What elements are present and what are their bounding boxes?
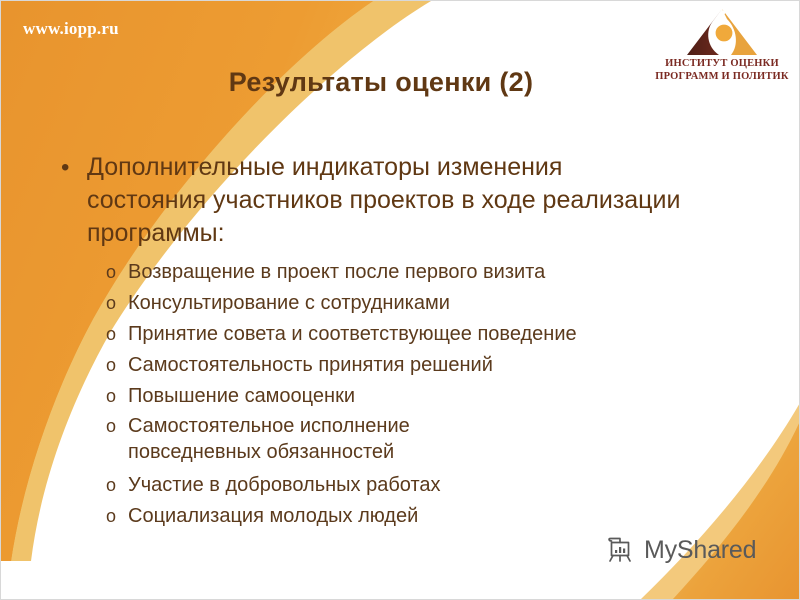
circle-marker-icon: o <box>106 320 128 349</box>
main-bullet: • Дополнительные индикаторы изменения со… <box>61 151 761 250</box>
myshared-watermark: MyShared <box>605 534 756 566</box>
circle-marker-icon: o <box>106 413 128 439</box>
circle-marker-icon: o <box>106 382 128 411</box>
triangle-person-logo-icon <box>679 7 765 57</box>
list-item: o Консультирование с сотрудниками <box>106 289 761 318</box>
list-item-label: Принятие совета и соответствующее поведе… <box>128 320 761 349</box>
main-bullet-text: Дополнительные индикаторы изменения сост… <box>87 151 687 250</box>
list-item-label: Социализация молодых людей <box>128 502 761 531</box>
list-item-label: Консультирование с сотрудниками <box>128 289 761 318</box>
list-item: o Повышение самооценки <box>106 382 761 411</box>
site-url-label: www.iopp.ru <box>23 19 119 39</box>
list-item: o Участие в добровольных работах <box>106 471 761 500</box>
page-title: Результаты оценки (2) <box>121 67 641 98</box>
circle-marker-icon: o <box>106 258 128 287</box>
list-item-label: Самостоятельность принятия решений <box>128 351 761 380</box>
logo-line-1: ИНСТИТУТ ОЦЕНКИ <box>649 57 795 70</box>
list-item-label: Повышение самооценки <box>128 382 761 411</box>
circle-marker-icon: o <box>106 351 128 380</box>
watermark-label: MyShared <box>644 538 756 563</box>
circle-marker-icon: o <box>106 502 128 531</box>
circle-marker-icon: o <box>106 471 128 500</box>
presentation-slide: www.iopp.ru ИНСТИТУТ ОЦЕНКИ ПРОГРАММ И П… <box>0 0 800 600</box>
list-item: o Самостоятельность принятия решений <box>106 351 761 380</box>
list-item-label: Участие в добровольных работах <box>128 471 761 500</box>
flipchart-barchart-icon <box>605 534 637 566</box>
list-item: o Возвращение в проект после первого виз… <box>106 258 761 287</box>
list-item: o Социализация молодых людей <box>106 502 761 531</box>
list-item: o Самостоятельное исполнение повседневны… <box>106 413 546 465</box>
slide-content: • Дополнительные индикаторы изменения со… <box>61 151 761 533</box>
list-item: o Принятие совета и соответствующее пове… <box>106 320 761 349</box>
logo-line-2: ПРОГРАММ И ПОЛИТИК <box>649 70 795 83</box>
circle-marker-icon: o <box>106 289 128 318</box>
institute-logo: ИНСТИТУТ ОЦЕНКИ ПРОГРАММ И ПОЛИТИК <box>649 7 795 95</box>
list-item-label: Самостоятельное исполнение повседневных … <box>128 413 546 465</box>
bullet-dot-icon: • <box>61 151 87 184</box>
sub-bullet-list: o Возвращение в проект после первого виз… <box>61 258 761 531</box>
list-item-label: Возвращение в проект после первого визит… <box>128 258 761 287</box>
